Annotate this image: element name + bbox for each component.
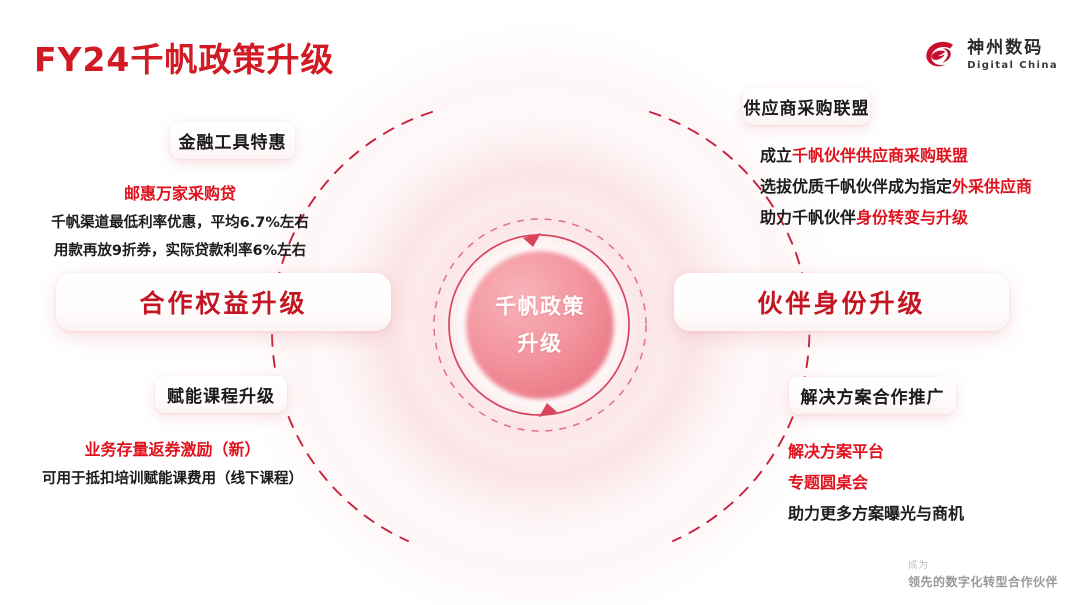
brand-name-en: Digital China [967, 61, 1058, 71]
brand-logo: 神州数码 Digital China [921, 36, 1058, 74]
text-span-highlight: 身份转变与升级 [856, 208, 968, 227]
text-line: 解决方案平台 [788, 436, 964, 467]
page-title: FY24千帆政策升级 [34, 33, 334, 81]
text-line: 用款再放9折券，实际贷款利率6%左右 [0, 237, 360, 265]
pillar-card-left[interactable]: 合作权益升级 [56, 273, 391, 331]
chip-solution-promotion-label: 解决方案合作推广 [801, 383, 945, 408]
pillar-card-right[interactable]: 伙伴身份升级 [674, 273, 1009, 331]
text-span-highlight: 专题圆桌会 [788, 473, 868, 492]
pillar-card-left-label: 合作权益升级 [139, 284, 307, 320]
text-block-solution: 解决方案平台专题圆桌会助力更多方案曝光与商机 [788, 436, 964, 530]
text-span-highlight: 业务存量返券激励（新） [84, 440, 260, 459]
chip-course[interactable]: 赋能课程升级 [155, 376, 287, 413]
text-span-highlight: 外采供应商 [952, 177, 1032, 196]
chip-finance-label: 金融工具特惠 [179, 128, 287, 153]
chip-supply-alliance[interactable]: 供应商采购联盟 [743, 88, 870, 125]
text-span: 助力千帆伙伴 [760, 208, 856, 227]
footer-slogan-line2: 领先的数字化转型合作伙伴 [908, 573, 1058, 591]
chip-finance[interactable]: 金融工具特惠 [170, 122, 295, 159]
text-span: 助力更多方案曝光与商机 [788, 504, 964, 523]
text-block-course: 业务存量返券激励（新）可用于抵扣培训赋能课费用（线下课程） [0, 434, 345, 493]
text-span: 千帆渠道最低利率优惠，平均6.7%左右 [51, 215, 309, 231]
digital-china-swirl-icon [921, 36, 959, 74]
text-span-highlight: 解决方案平台 [788, 442, 884, 461]
text-span: 成立 [760, 146, 792, 165]
text-span-highlight: 邮惠万家采购贷 [124, 184, 236, 203]
slide-canvas: 千帆政策 升级 FY24千帆政策升级 神州数码 Digital China 合作… [0, 0, 1080, 605]
text-span-highlight: 千帆伙伴供应商采购联盟 [792, 146, 968, 165]
text-line: 成立千帆伙伴供应商采购联盟 [760, 140, 1032, 171]
text-line: 邮惠万家采购贷 [0, 178, 360, 209]
footer-slogan-line1: 成为 [908, 559, 1058, 573]
chip-solution-promotion[interactable]: 解决方案合作推广 [789, 377, 956, 414]
pillar-card-right-label: 伙伴身份升级 [757, 284, 925, 320]
footer-slogan: 成为 领先的数字化转型合作伙伴 [908, 559, 1058, 591]
text-line: 助力更多方案曝光与商机 [788, 498, 964, 529]
brand-logo-text: 神州数码 Digital China [967, 40, 1058, 71]
center-core-line1: 千帆政策 [440, 288, 640, 325]
text-line: 助力千帆伙伴身份转变与升级 [760, 202, 1032, 233]
text-block-supply-alliance: 成立千帆伙伴供应商采购联盟选拔优质千帆伙伴成为指定外采供应商助力千帆伙伴身份转变… [760, 140, 1032, 234]
chip-course-label: 赋能课程升级 [167, 382, 275, 407]
center-core-line2: 升级 [440, 325, 640, 362]
text-line: 业务存量返券激励（新） [0, 434, 345, 465]
text-block-finance: 邮惠万家采购贷千帆渠道最低利率优惠，平均6.7%左右用款再放9折券，实际贷款利率… [0, 178, 360, 266]
center-core-label: 千帆政策 升级 [440, 288, 640, 362]
text-span: 可用于抵扣培训赋能课费用（线下课程） [42, 471, 303, 487]
text-line: 选拔优质千帆伙伴成为指定外采供应商 [760, 171, 1032, 202]
text-line: 可用于抵扣培训赋能课费用（线下课程） [0, 465, 345, 493]
chip-supply-alliance-label: 供应商采购联盟 [744, 94, 870, 119]
text-span: 用款再放9折券，实际贷款利率6%左右 [54, 243, 306, 259]
text-line: 千帆渠道最低利率优惠，平均6.7%左右 [0, 209, 360, 237]
text-span: 选拔优质千帆伙伴成为指定 [760, 177, 952, 196]
text-line: 专题圆桌会 [788, 467, 964, 498]
brand-name-cn: 神州数码 [967, 40, 1058, 57]
